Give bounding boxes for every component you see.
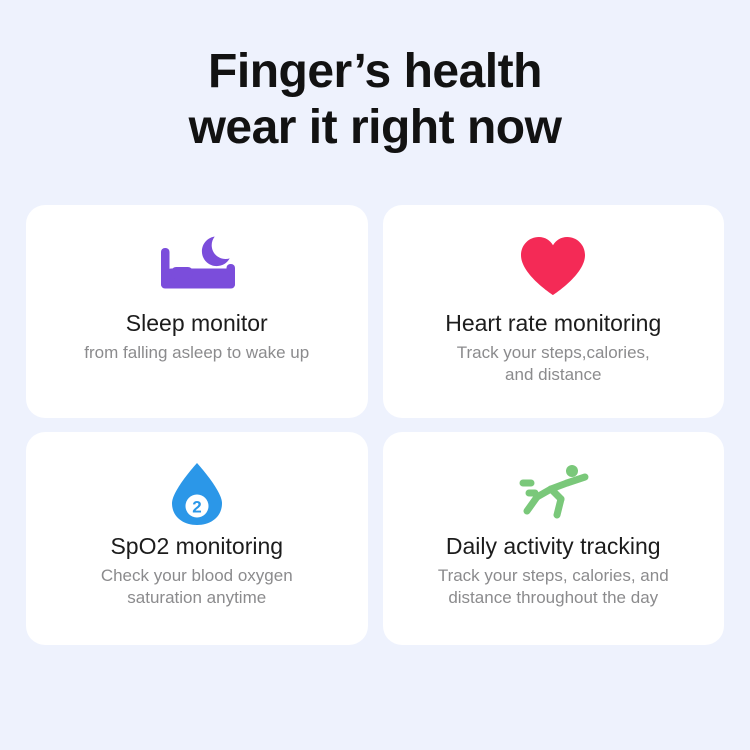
feature-card-grid: Sleep monitor from falling asleep to wak… — [26, 205, 724, 645]
feature-card-heart-rate: Heart rate monitoring Track your steps,c… — [383, 205, 725, 418]
feature-card-subtitle: Check your blood oxygen saturation anyti… — [85, 565, 309, 609]
feature-card-spo2: 2 SpO2 monitoring Check your blood oxyge… — [26, 432, 368, 645]
running-person-icon — [515, 458, 591, 530]
feature-card-subtitle-line-1: Check your blood oxygen — [101, 566, 293, 585]
feature-card-title: Sleep monitor — [116, 309, 278, 337]
feature-card-subtitle-line-2: and distance — [505, 365, 601, 384]
feature-card-daily-activity: Daily activity tracking Track your steps… — [383, 432, 725, 645]
feature-card-subtitle-line-2: distance throughout the day — [448, 588, 658, 607]
bed-moon-icon — [155, 227, 239, 305]
feature-card-subtitle: Track your steps,calories, and distance — [441, 342, 666, 386]
feature-card-subtitle: from falling asleep to wake up — [68, 342, 325, 364]
page-title: Finger’s health wear it right now — [0, 44, 750, 156]
heart-icon — [518, 227, 588, 305]
page-title-line-2: wear it right now — [0, 100, 750, 156]
feature-card-sleep-monitor: Sleep monitor from falling asleep to wak… — [26, 205, 368, 418]
page-title-line-1: Finger’s health — [0, 44, 750, 100]
feature-card-subtitle-line-2: saturation anytime — [127, 588, 266, 607]
o2-badge-text: 2 — [192, 498, 201, 517]
water-drop-o2-icon: 2 — [168, 458, 226, 530]
promo-page: Finger’s health wear it right now Sleep — [0, 0, 750, 750]
feature-card-title: Daily activity tracking — [436, 532, 671, 560]
feature-card-subtitle: Track your steps, calories, and distance… — [422, 565, 685, 609]
feature-card-subtitle-line-1: Track your steps, calories, and — [438, 566, 669, 585]
feature-card-title: SpO2 monitoring — [100, 532, 293, 560]
feature-card-subtitle-line-1: Track your steps,calories, — [457, 343, 650, 362]
feature-card-title: Heart rate monitoring — [435, 309, 671, 337]
